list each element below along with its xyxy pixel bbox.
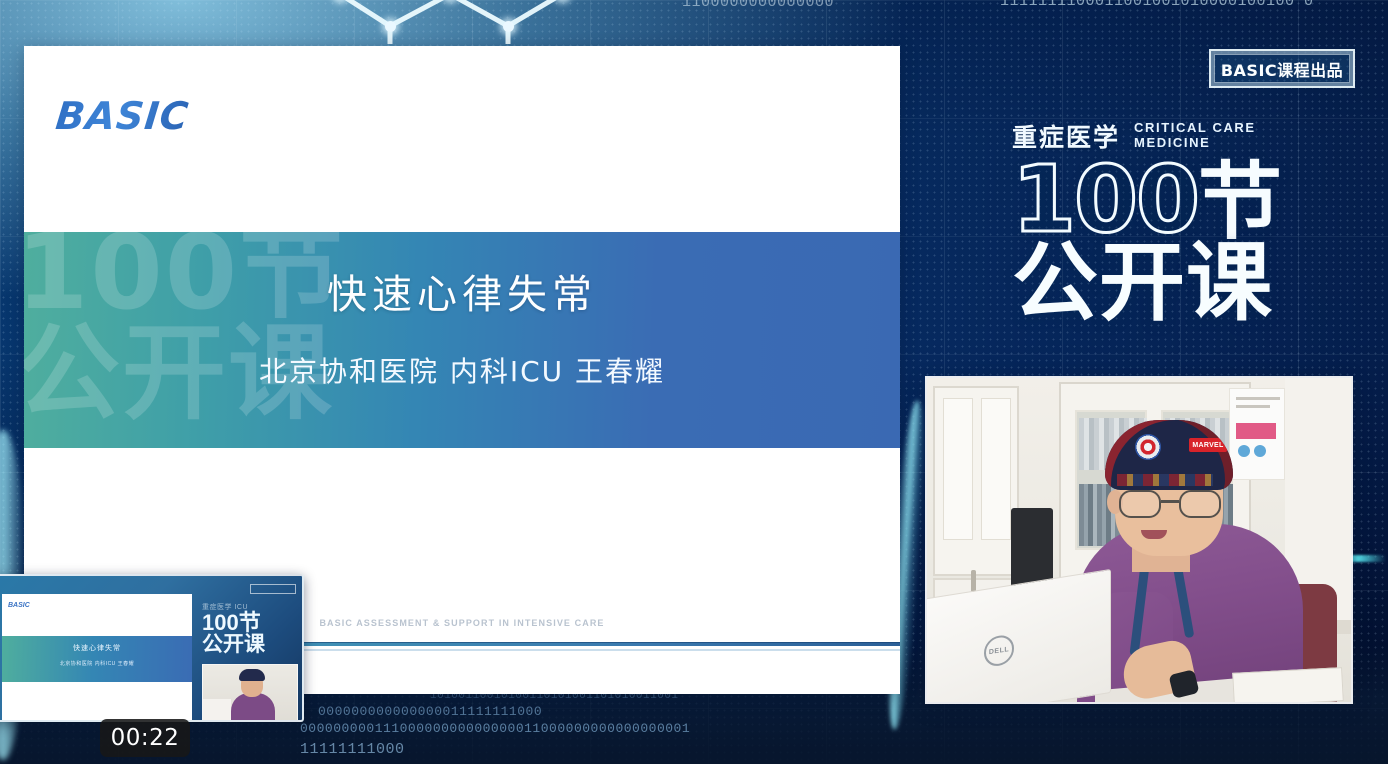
poster-line bbox=[1236, 397, 1280, 400]
slide-subtitle: 北京协和医院 内科ICU 王春耀 bbox=[24, 350, 900, 390]
poster-line bbox=[1236, 405, 1270, 408]
playback-timer-value: 00:22 bbox=[111, 725, 180, 751]
poster-dot bbox=[1238, 445, 1250, 457]
binary-decoration-bottom-a: 000000000000000011111111000 bbox=[318, 704, 878, 719]
picture-in-picture-thumbnail[interactable]: BASIC 快速心律失常 北京协和医院 内科ICU 王春耀 重症医学 ICU 1… bbox=[0, 574, 304, 722]
video-wall-poster bbox=[1229, 388, 1285, 480]
video-player-stage: 1100000000000000 11111111000110010010100… bbox=[0, 0, 1388, 764]
captain-america-shield-icon bbox=[1135, 434, 1161, 460]
binary-decoration-bottom-c: 11111111000 bbox=[300, 741, 600, 758]
poster-dot bbox=[1254, 445, 1266, 457]
dell-logo-icon: DELL bbox=[984, 633, 1014, 668]
glasses-bridge bbox=[1161, 500, 1179, 503]
video-dark-object bbox=[1011, 508, 1053, 588]
pip-presenter-cap bbox=[239, 669, 265, 681]
pip-presenter-torso bbox=[231, 693, 275, 722]
pip-title-band: 快速心律失常 北京协和医院 内科ICU 王春耀 bbox=[2, 636, 192, 682]
course-title-english-line1: CRITICAL CARE bbox=[1134, 121, 1256, 136]
lattice-node bbox=[385, 21, 396, 32]
marvel-logo-icon bbox=[1189, 438, 1227, 452]
presenter-video[interactable]: DELL bbox=[927, 378, 1351, 702]
glasses-lens-left bbox=[1119, 490, 1161, 518]
cap-pattern-strip bbox=[1117, 474, 1213, 486]
pip-slide-preview: BASIC 快速心律失常 北京协和医院 内科ICU 王春耀 bbox=[2, 594, 192, 722]
poster-block bbox=[1236, 423, 1276, 439]
glasses-lens-right bbox=[1179, 490, 1221, 518]
slide-title-band: 100节 公开课 快速心律失常 北京协和医院 内科ICU 王春耀 bbox=[24, 232, 900, 448]
desk-paper bbox=[1232, 667, 1344, 702]
binary-decoration-top-right: 1111111100011001001010000100100 0 bbox=[1000, 0, 1388, 10]
pip-producer-badge bbox=[250, 584, 296, 594]
producer-badge-label: BASIC课程出品 bbox=[1221, 57, 1343, 81]
pip-slide-subtitle: 北京协和医院 内科ICU 王春耀 bbox=[2, 660, 192, 667]
pip-presenter-video bbox=[202, 664, 298, 722]
pip-right-panel: 重症医学 ICU 100节 公开课 bbox=[196, 580, 300, 720]
lattice-node bbox=[503, 21, 514, 32]
pip-course-subtitle: 公开课 bbox=[202, 634, 265, 655]
pip-episode-count: 100节 bbox=[202, 612, 261, 634]
pip-laptop bbox=[203, 699, 231, 722]
binary-decoration-top-left: 1100000000000000 bbox=[682, 0, 1012, 11]
pip-slide-title: 快速心律失常 bbox=[2, 643, 192, 653]
molecule-lattice-decoration bbox=[300, 0, 600, 44]
producer-badge: BASIC课程出品 bbox=[1209, 49, 1355, 88]
course-subtitle: 公开课 bbox=[1012, 243, 1312, 325]
presenter-glasses bbox=[1119, 490, 1221, 520]
slide-title: 快速心律失常 bbox=[24, 262, 900, 320]
video-cabinet-left bbox=[933, 386, 1019, 576]
course-title-block: 重症医学 CRITICAL CARE MEDICINE 100节 公开课 bbox=[1012, 118, 1312, 324]
pip-basic-logo: BASIC bbox=[8, 602, 30, 609]
slide-basic-logo: BASIC bbox=[54, 94, 191, 138]
playback-timer-badge[interactable]: 00:22 bbox=[100, 719, 190, 757]
course-episode-count: 100节 bbox=[1012, 158, 1312, 243]
video-cabinet-handle bbox=[971, 570, 976, 592]
molecule-lattice-svg bbox=[300, 0, 600, 44]
